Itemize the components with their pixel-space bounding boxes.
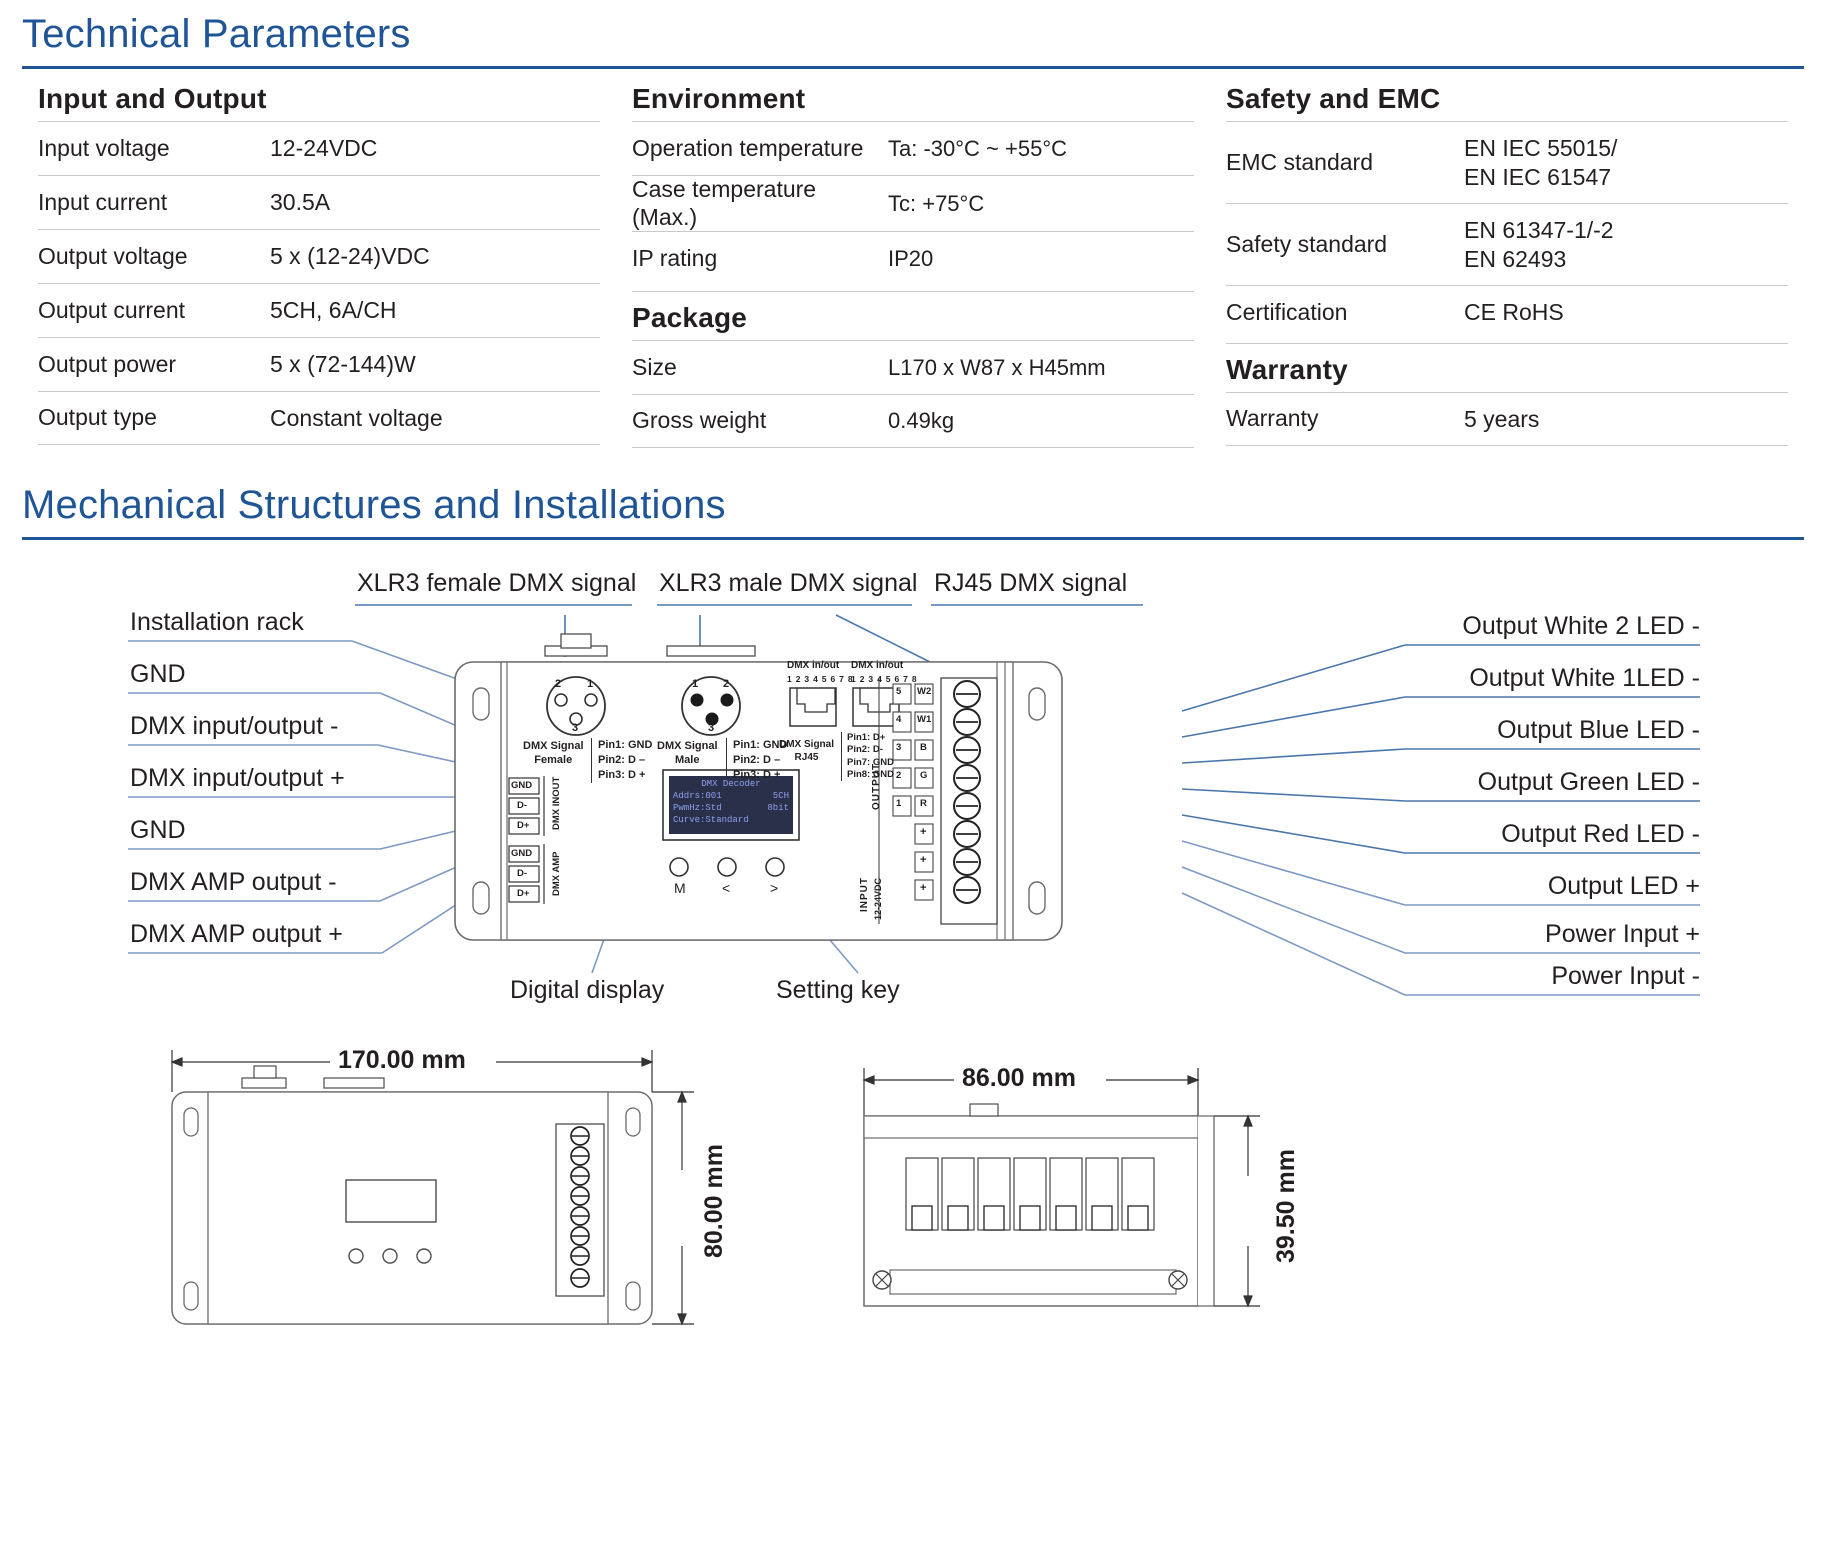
front-view-height-dim: 80.00 mm [700,1144,729,1258]
rj45-legend: DMX Signal RJ45 [779,738,834,764]
spec-key: Certification [1226,299,1464,327]
spec-key: Operation temperature [632,135,888,163]
dmx-amp-terminal-1: D- [517,868,527,879]
xlr-male-legend: DMX Signal Male [657,740,718,768]
table-row: Gross weight 0.49kg [632,394,1194,448]
display-content: DMX Decoder Addrs:001 5CH PwmHz:Std 8bit… [669,776,793,834]
spec-column-environment-package: Environment Operation temperature Ta: -3… [616,69,1210,448]
table-row: Output voltage 5 x (12-24)VDC [38,229,600,283]
mechanical-section: Mechanical Structures and Installations [0,475,1826,540]
spec-value: 5 x (72-144)W [270,350,600,379]
table-row: Size L170 x W87 x H45mm [632,340,1194,394]
callout-xlr3-male: XLR3 male DMX signal [659,571,917,596]
spec-value: 12-24VDC [270,134,600,163]
technical-parameters-section: Technical Parameters Input and Output In… [0,0,1826,448]
callout-dmx-amp-minus: DMX AMP output - [130,870,337,895]
pin1: Pin1: GND [598,738,652,753]
spec-key: Case temperature (Max.) [632,176,888,231]
spec-column-safety-warranty: Safety and EMC EMC standard EN IEC 55015… [1210,69,1804,448]
table-row: Output current 5CH, 6A/CH [38,283,600,337]
spec-key: Output current [38,297,270,325]
table-row: Case temperature (Max.) Tc: +75°C [632,175,1194,231]
group-title-safety-emc: Safety and EMC [1226,83,1788,115]
side-view-height-dim: 39.50 mm [1272,1149,1301,1263]
spec-column-input-output: Input and Output Input voltage 12-24VDC … [22,69,616,448]
display-pwmhz: PwmHz:Std [673,803,722,815]
xlr-female-pins: Pin1: GND Pin2: D – Pin3: D + [591,738,652,783]
rj45-pin2: Pin2: D- [847,744,894,756]
output-term-1: 1 [896,798,901,809]
table-row: Input voltage 12-24VDC [38,121,600,175]
datasheet-page: Technical Parameters Input and Output In… [0,0,1826,1550]
callout-dmx-amp-plus: DMX AMP output + [130,922,343,947]
callout-gnd-1: GND [130,662,186,687]
dmx-inout-terminal-0: GND [511,780,532,791]
spec-value: EN 61347-1/-2 EN 62493 [1464,216,1788,274]
xlr-female-name-1: DMX Signal [523,740,584,752]
dmx-amp-terminal-0: GND [511,848,532,859]
xlr-female-pin-num-1: 1 [587,678,593,690]
output-ch-W1: W1 [917,714,931,725]
callout-installation-rack: Installation rack [130,610,304,635]
display-curve: Curve:Standard [673,815,789,827]
spec-key: Input voltage [38,135,270,163]
callout-out-green: Output Green LED - [1478,770,1700,795]
spec-value: L170 x W87 x H45mm [888,354,1194,382]
dmx-inout-block-title: DMX INOUT [551,777,562,830]
callout-pwr-in-pos: Power Input + [1545,922,1700,947]
xlr-male-pin-num-3: 3 [708,722,714,734]
xlr-female-legend: DMX Signal Female [523,740,584,768]
table-row: Output power 5 x (72-144)W [38,337,600,391]
pin2: Pin2: D – [598,753,652,768]
key-label-m: M [674,880,686,896]
key-label-prev: < [722,880,730,896]
xlr-male-name-1: DMX Signal [657,740,718,752]
spec-key: Warranty [1226,405,1464,433]
group-title-input-output: Input and Output [38,83,600,115]
output-block-title: OUTPUT [871,763,882,810]
front-view-drawing [160,1030,720,1330]
xlr-female-pin-num-3: 3 [572,722,578,734]
spec-value: CE RoHS [1464,298,1788,327]
table-row: EMC standard EN IEC 55015/ EN IEC 61547 [1226,121,1788,203]
dmx-inout-terminal-2: D+ [517,820,529,831]
output-ch-W2: W2 [917,686,931,697]
output-ch-G: G [920,770,927,781]
group-title-environment: Environment [632,83,1194,115]
xlr-male-pin-num-1: 1 [692,678,698,690]
output-ch-R: R [920,798,927,809]
spec-key: Safety standard [1226,231,1464,259]
callout-pwr-in-neg: Power Input - [1551,964,1700,989]
spec-key: IP rating [632,245,888,273]
display-ch: 5CH [773,791,789,803]
side-view-drawing [850,1030,1410,1330]
spec-value: Constant voltage [270,404,600,433]
callout-xlr3-female: XLR3 female DMX signal [357,571,636,596]
output-plus-2: + [920,854,926,866]
rj45-label-b: DMX in/out [851,660,903,671]
output-term-5: 5 [896,686,901,697]
callout-digital-display: Digital display [510,978,664,1003]
spec-key: Size [632,354,888,382]
output-term-3: 3 [896,742,901,753]
device-top-view: DMX Signal Female Pin1: GND Pin2: D – Pi… [449,630,1074,950]
table-row: IP rating IP20 [632,231,1194,285]
callout-dmx-io-plus: DMX input/output + [130,766,345,791]
spec-value: 30.5A [270,188,600,217]
output-plus-1: + [920,826,926,838]
output-ch-B: B [920,742,927,753]
input-block-subtitle: 12-24VDC [873,878,883,920]
output-plus-3: + [920,882,926,894]
spec-key: Gross weight [632,407,888,435]
group-title-warranty: Warranty [1226,343,1788,386]
display-bit: 8bit [767,803,789,815]
display-addr: Addrs:001 [673,791,722,803]
xlr-female-name-2: Female [534,754,572,766]
output-term-4: 4 [896,714,901,725]
xlr-female-pin-num-2: 2 [555,678,561,690]
dmx-inout-terminal-1: D- [517,800,527,811]
spec-key: Output type [38,404,270,432]
table-row: Warranty 5 years [1226,392,1788,446]
table-row: Certification CE RoHS [1226,285,1788,339]
side-view-width-dim: 86.00 mm [962,1064,1076,1093]
callout-out-white1: Output White 1LED - [1469,666,1700,691]
callout-setting-key: Setting key [776,978,900,1003]
spec-key: Output voltage [38,243,270,271]
display-line-title: DMX Decoder [673,779,789,791]
callout-out-red: Output Red LED - [1501,822,1700,847]
spec-value: IP20 [888,245,1194,273]
callout-gnd-2: GND [130,818,186,843]
rj45-label-a: DMX in/out [787,660,839,671]
input-block-title: INPUT [859,877,870,912]
rj45-name-2: RJ45 [795,752,819,763]
dmx-amp-block-title: DMX AMP [551,851,562,896]
callout-dmx-io-minus: DMX input/output - [130,714,338,739]
dimension-drawings: 170.00 mm 80.00 mm [0,1020,1826,1550]
spec-value: 5 years [1464,405,1788,434]
pin3: Pin3: D + [598,768,652,783]
rj45-pinout: Pin1: D+ Pin2: D- Pin7: GND Pin8: GND [841,732,894,781]
spec-key: EMC standard [1226,149,1464,177]
callout-out-blue: Output Blue LED - [1497,718,1700,743]
xlr-male-pin-num-2: 2 [723,678,729,690]
rj45-pins-b: 1 2 3 4 5 6 7 8 [851,674,917,684]
spec-value: Ta: -30°C ~ +55°C [888,135,1194,163]
page-title: Technical Parameters [22,14,1804,54]
spec-value: EN IEC 55015/ EN IEC 61547 [1464,134,1788,192]
table-row: Safety standard EN 61347-1/-2 EN 62493 [1226,203,1788,285]
rj45-name-1: DMX Signal [779,739,834,750]
group-title-package: Package [632,291,1194,334]
output-term-2: 2 [896,770,901,781]
table-row: Operation temperature Ta: -30°C ~ +55°C [632,121,1194,175]
callout-rj45: RJ45 DMX signal [934,571,1127,596]
table-row: Input current 30.5A [38,175,600,229]
table-row: Output type Constant voltage [38,391,600,445]
callout-out-led-pos: Output LED + [1548,874,1700,899]
front-view-width-dim: 170.00 mm [338,1046,466,1075]
spec-value: 5 x (12-24)VDC [270,242,600,271]
spec-key: Input current [38,189,270,217]
spec-value: 5CH, 6A/CH [270,296,600,325]
rj45-pins-a: 1 2 3 4 5 6 7 8 [787,674,853,684]
key-label-next: > [770,880,778,896]
spec-value: Tc: +75°C [888,190,1194,218]
dmx-amp-terminal-2: D+ [517,888,529,899]
rj45-pin1: Pin1: D+ [847,732,894,744]
spec-key: Output power [38,351,270,379]
spec-value: 0.49kg [888,407,1194,435]
xlr-male-name-2: Male [675,754,699,766]
callout-out-white2: Output White 2 LED - [1462,614,1700,639]
